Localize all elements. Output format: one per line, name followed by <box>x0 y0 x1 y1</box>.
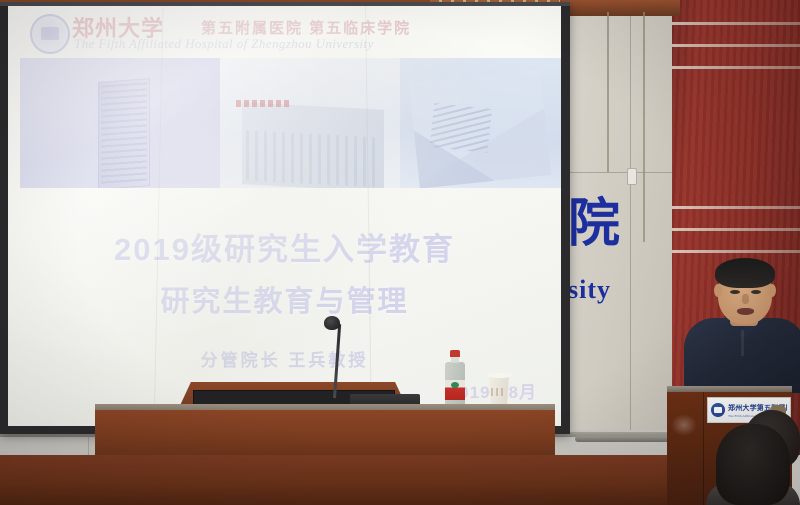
university-emblem-icon <box>30 14 70 54</box>
paper-cup-pattern <box>491 388 506 396</box>
wall-seam <box>630 0 631 440</box>
bottle-label <box>445 380 465 400</box>
wood-stripe <box>672 66 800 69</box>
slide-header-english: The Fifth Affiliated Hospital of Zhengzh… <box>74 36 374 52</box>
bottle-neck <box>451 356 459 363</box>
slide-photo-main <box>220 58 400 188</box>
building-tower <box>98 78 150 188</box>
projection-screen: 郑州大学 第五附属医院 第五临床学院 The Fifth Affiliated … <box>8 6 561 426</box>
wall-outlet[interactable] <box>627 168 637 185</box>
building-aerial <box>409 69 551 188</box>
paper-cup-rim <box>486 373 512 378</box>
slide-photo-aerial <box>400 58 561 188</box>
wall-seam-horizontal <box>560 172 675 173</box>
building-main <box>242 102 384 188</box>
wood-stripe <box>672 206 800 209</box>
slide-photo-tower <box>20 58 220 188</box>
speaker-eye-left <box>730 290 740 294</box>
ceiling-trim-right <box>560 0 680 16</box>
slide-title-line-1: 2019级研究生入学教育 <box>8 224 561 269</box>
speaker-lectern-sheen <box>671 414 697 436</box>
bottle-cap <box>450 350 460 357</box>
wood-stripe <box>672 22 800 25</box>
speaker-ear-right <box>768 284 776 297</box>
speaker-mouth <box>737 308 754 315</box>
speaker-eyebrow-left <box>728 284 741 287</box>
wall-cable <box>643 12 645 242</box>
speaker-ear-left <box>714 284 722 297</box>
slide-photo-band <box>8 58 561 188</box>
speaker-hair <box>715 258 775 288</box>
speaker-eyebrow-right <box>750 284 763 287</box>
audience-head-front <box>716 424 790 505</box>
slide-presenter: 分管院长 王兵教授 <box>8 346 561 371</box>
projection-screen-frame: 郑州大学 第五附属医院 第五临床学院 The Fifth Affiliated … <box>0 2 570 434</box>
speaker-person <box>690 258 800 390</box>
front-desk <box>0 455 700 505</box>
wall-panel-cream <box>560 0 675 440</box>
slide-title-line-2: 研究生教育与管理 <box>8 278 561 320</box>
speaker-lectern-top <box>667 386 792 392</box>
speaker-shirt-placket <box>741 330 744 356</box>
speaker-lectern-seam <box>703 392 704 505</box>
lecture-hall-photo: 院 sity 郑州大学 第五附属医院 第五临床学院 The Fifth Affi… <box>0 0 800 505</box>
slide-header: 郑州大学 第五附属医院 第五临床学院 The Fifth Affiliated … <box>26 8 546 56</box>
speaker-nose <box>742 294 749 304</box>
slide-header-institution: 第五附属医院 第五临床学院 <box>201 17 411 38</box>
hospital-emblem-icon <box>711 403 725 417</box>
wood-stripe <box>672 44 800 47</box>
wall-cable <box>607 12 609 172</box>
wood-stripe <box>672 250 800 253</box>
speaker-eye-right <box>751 290 761 294</box>
wood-stripe <box>672 228 800 231</box>
building-rooftop-sign <box>236 100 292 107</box>
water-bottle[interactable] <box>445 350 465 406</box>
microphone-icon[interactable] <box>324 316 340 330</box>
